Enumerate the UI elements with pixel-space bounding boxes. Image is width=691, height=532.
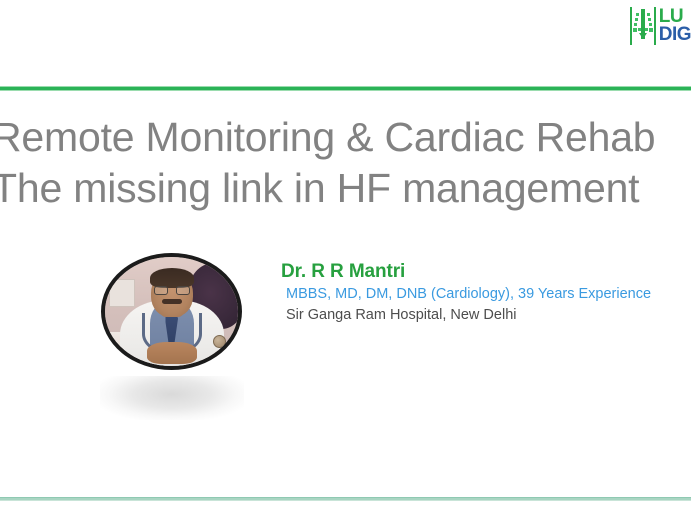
moustache — [162, 299, 182, 304]
speaker-credentials: MBBS, MD, DM, DNB (Cardiology), 39 Years… — [286, 284, 691, 305]
hair — [150, 268, 194, 288]
caduceus-plant-emblem-icon — [630, 7, 656, 45]
stethoscope-bell-icon — [213, 335, 226, 348]
speaker-affiliation: Sir Ganga Ram Hospital, New Delhi — [286, 305, 691, 326]
speaker-details: Dr. R R Mantri MBBS, MD, DM, DNB (Cardio… — [281, 260, 691, 326]
slide-title: Remote Monitoring & Cardiac Rehab The mi… — [0, 112, 691, 214]
title-line-2: The missing link in HF management — [0, 163, 691, 214]
speaker-photo-wrapper — [100, 250, 244, 420]
brand-logo-word-secondary: DIG — [659, 26, 691, 44]
slide-header: LU DIG — [0, 0, 691, 88]
doctor-portrait-image — [105, 257, 238, 366]
brand-logo-wordmark: LU DIG — [659, 8, 691, 44]
title-line-1: Remote Monitoring & Cardiac Rehab — [0, 112, 691, 163]
photo-drop-shadow — [100, 376, 244, 420]
speaker-name: Dr. R R Mantri — [281, 260, 691, 284]
header-divider — [0, 86, 691, 91]
brand-logo: LU DIG — [630, 6, 691, 46]
speaker-block: Dr. R R Mantri MBBS, MD, DM, DNB (Cardio… — [0, 248, 691, 423]
avatar — [101, 253, 242, 370]
background-picture-frame — [109, 279, 135, 307]
eyeglasses-icon — [154, 286, 190, 296]
presentation-slide: LU DIG Remote Monitoring & Cardiac Rehab… — [0, 0, 691, 532]
footer-divider — [0, 497, 691, 501]
clasped-hands — [147, 342, 197, 364]
